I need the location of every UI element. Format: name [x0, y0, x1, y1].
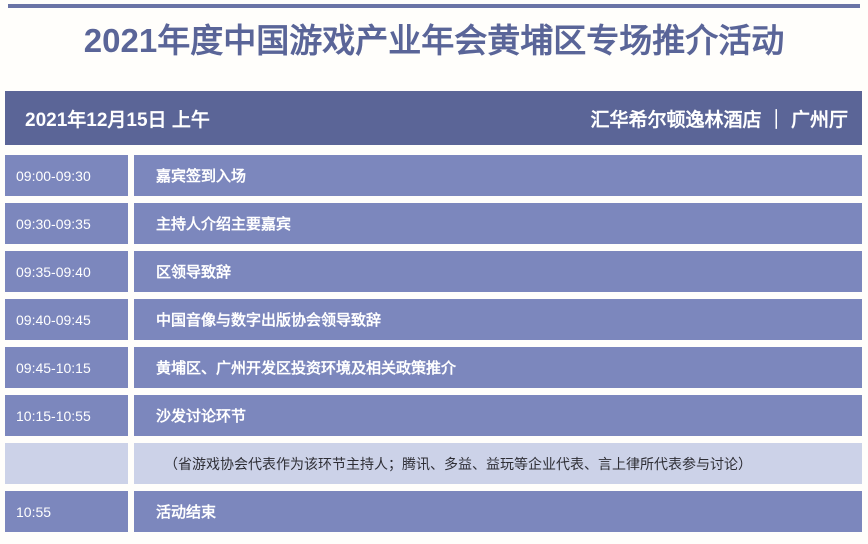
schedule-row: 09:40-09:45中国音像与数字出版协会领导致辞 — [5, 299, 862, 340]
schedule-time-cell: 09:40-09:45 — [5, 299, 128, 340]
schedule-time-cell: 09:00-09:30 — [5, 155, 128, 196]
schedule-item-cell: 活动结束 — [134, 491, 862, 532]
schedule-row: 09:00-09:30嘉宾签到入场 — [5, 155, 862, 196]
schedule-row: 10:15-10:55沙发讨论环节 — [5, 395, 862, 436]
event-venue: 汇华希尔顿逸林酒店 ｜ 广州厅 — [590, 105, 848, 132]
schedule-time-cell: 10:55 — [5, 491, 128, 532]
schedule-item-cell: 沙发讨论环节 — [134, 395, 862, 436]
schedule-item-cell: 中国音像与数字出版协会领导致辞 — [134, 299, 862, 340]
schedule-time-cell: 09:35-09:40 — [5, 251, 128, 292]
top-divider-rule — [8, 4, 860, 8]
agenda-poster: 2021年度中国游戏产业年会黄埔区专场推介活动 2021年12月15日 上午 汇… — [0, 0, 868, 544]
schedule-item-cell: 黄埔区、广州开发区投资环境及相关政策推介 — [134, 347, 862, 388]
schedule-item-cell: （省游戏协会代表作为该环节主持人；腾讯、多益、益玩等企业代表、言上律所代表参与讨… — [134, 443, 862, 484]
schedule-row: 09:30-09:35主持人介绍主要嘉宾 — [5, 203, 862, 244]
schedule-time-cell: 10:15-10:55 — [5, 395, 128, 436]
page-title: 2021年度中国游戏产业年会黄埔区专场推介活动 — [0, 18, 868, 64]
schedule-item-cell: 主持人介绍主要嘉宾 — [134, 203, 862, 244]
schedule-row: 09:35-09:40区领导致辞 — [5, 251, 862, 292]
schedule-note-row: （省游戏协会代表作为该环节主持人；腾讯、多益、益玩等企业代表、言上律所代表参与讨… — [5, 443, 862, 484]
schedule-table: 09:00-09:30嘉宾签到入场09:30-09:35主持人介绍主要嘉宾09:… — [5, 155, 862, 539]
schedule-item-cell: 区领导致辞 — [134, 251, 862, 292]
event-date: 2021年12月15日 上午 — [25, 105, 210, 132]
schedule-time-cell — [5, 443, 128, 484]
schedule-time-cell: 09:30-09:35 — [5, 203, 128, 244]
date-venue-band: 2021年12月15日 上午 汇华希尔顿逸林酒店 ｜ 广州厅 — [5, 91, 862, 145]
schedule-item-cell: 嘉宾签到入场 — [134, 155, 862, 196]
schedule-row: 09:45-10:15黄埔区、广州开发区投资环境及相关政策推介 — [5, 347, 862, 388]
schedule-row: 10:55活动结束 — [5, 491, 862, 532]
schedule-time-cell: 09:45-10:15 — [5, 347, 128, 388]
